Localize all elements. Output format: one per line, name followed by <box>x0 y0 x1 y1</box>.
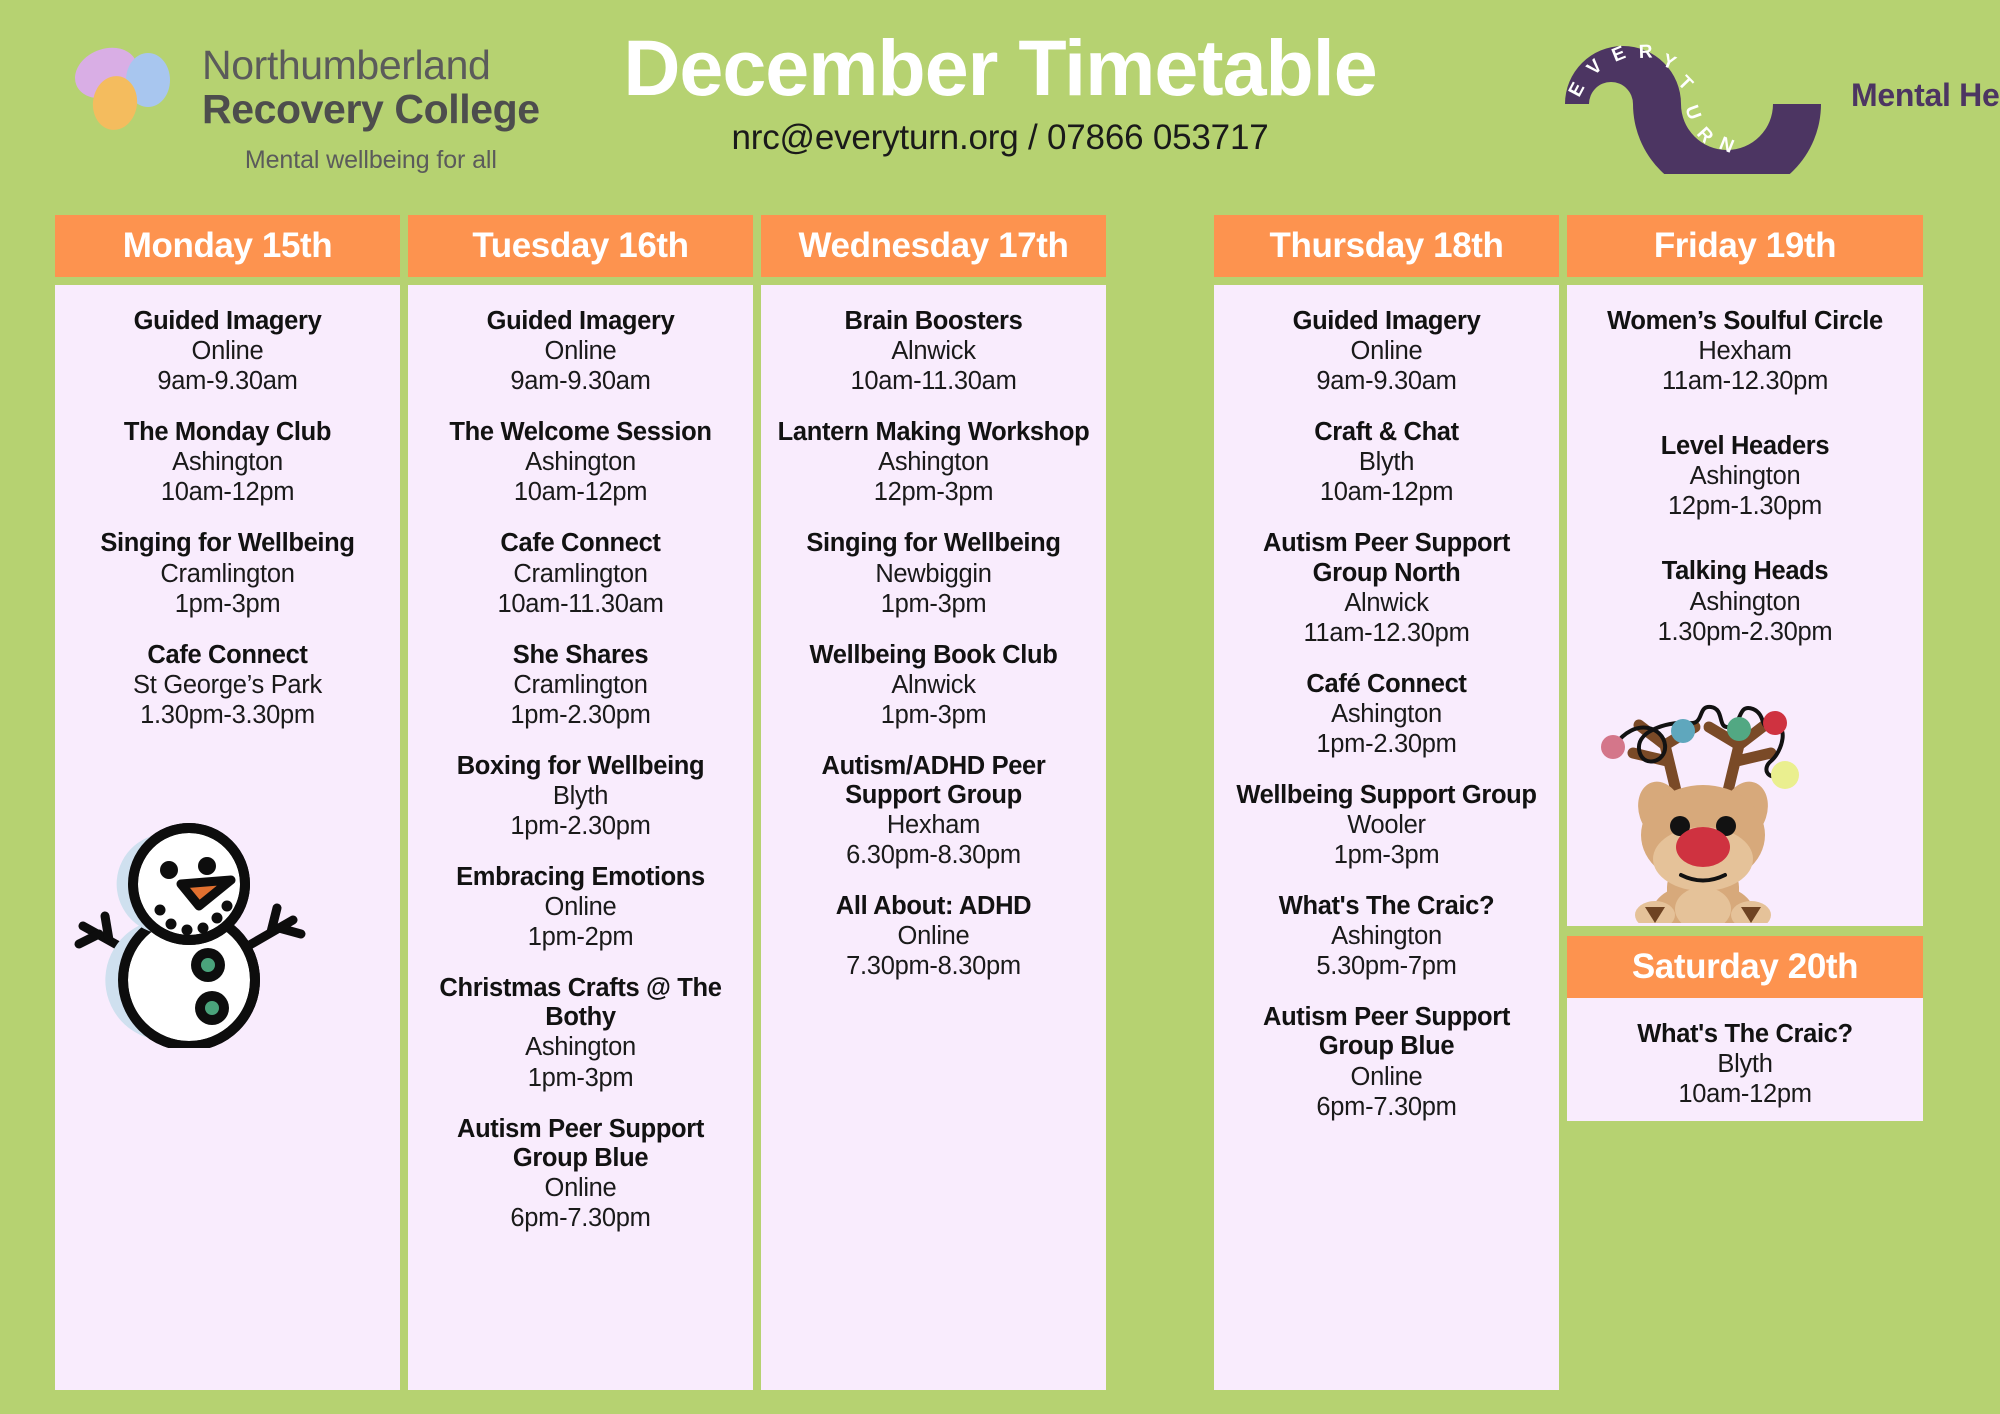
event-time: 1pm-2.30pm <box>418 700 743 730</box>
everyturn-brand: E V E R Y T U R N Mental Health <box>1555 22 2000 174</box>
event-location: Hexham <box>771 810 1096 840</box>
brand-line-1: Northumberland <box>202 44 540 88</box>
day-body-tuesday: Guided Imagery Online 9am-9.30am The Wel… <box>408 285 753 1390</box>
event-time: 10am-12pm <box>65 477 390 507</box>
event-title: Wellbeing Book Club <box>771 641 1096 670</box>
everyturn-swirl-icon: E V E R Y T U R N <box>1555 22 1845 174</box>
event-location: Cramlington <box>418 559 743 589</box>
event-location: Ashington <box>418 1032 743 1062</box>
event-time: 1pm-2pm <box>418 922 743 952</box>
event-title: Wellbeing Support Group <box>1224 781 1549 810</box>
event-item[interactable]: Guided Imagery Online 9am-9.30am <box>418 307 743 396</box>
event-time: 10am-12pm <box>1577 1079 1913 1109</box>
event-title: Cafe Connect <box>418 529 743 558</box>
event-time: 12pm-3pm <box>771 477 1096 507</box>
page-title: December Timetable <box>500 24 1500 112</box>
day-body-thursday: Guided Imagery Online 9am-9.30am Craft &… <box>1214 285 1559 1390</box>
event-location: Online <box>418 336 743 366</box>
event-title: Autism Peer Support Group North <box>1224 529 1549 587</box>
event-item[interactable]: The Monday Club Ashington 10am-12pm <box>65 418 390 507</box>
divider <box>1214 277 1559 285</box>
snowman-illustration <box>65 808 390 1053</box>
event-title: She Shares <box>418 641 743 670</box>
divider <box>55 277 400 285</box>
day-body-wednesday: Brain Boosters Alnwick 10am-11.30am Lant… <box>761 285 1106 1390</box>
event-title: Guided Imagery <box>418 307 743 336</box>
event-time: 6pm-7.30pm <box>418 1203 743 1233</box>
title-block: December Timetable nrc@everyturn.org / 0… <box>500 24 1500 158</box>
event-title: Café Connect <box>1224 670 1549 699</box>
event-item[interactable]: Talking Heads Ashington 1.30pm-2.30pm <box>1577 557 1913 646</box>
event-time: 12pm-1.30pm <box>1577 491 1913 521</box>
event-item[interactable]: Autism Peer Support Group Blue Online 6p… <box>418 1115 743 1233</box>
event-title: Boxing for Wellbeing <box>418 752 743 781</box>
event-location: Ashington <box>1224 921 1549 951</box>
event-location: Ashington <box>771 447 1096 477</box>
event-location: Online <box>418 1173 743 1203</box>
event-item[interactable]: Women’s Soulful Circle Hexham 11am-12.30… <box>1577 307 1913 396</box>
butterfly-logo-icon <box>58 35 198 140</box>
day-body-friday: Women’s Soulful Circle Hexham 11am-12.30… <box>1567 285 1923 926</box>
event-title: Autism Peer Support Group Blue <box>418 1115 743 1173</box>
event-title: The Welcome Session <box>418 418 743 447</box>
event-location: St George’s Park <box>65 670 390 700</box>
event-location: Blyth <box>1224 447 1549 477</box>
event-item[interactable]: Cafe Connect Cramlington 10am-11.30am <box>418 529 743 618</box>
event-item[interactable]: Autism/ADHD Peer Support Group Hexham 6.… <box>771 752 1096 870</box>
event-time: 7.30pm-8.30pm <box>771 951 1096 981</box>
everyturn-subtitle: Mental Health <box>1851 77 2000 114</box>
event-time: 1.30pm-2.30pm <box>1577 617 1913 647</box>
event-time: 9am-9.30am <box>65 366 390 396</box>
reindeer-illustration <box>1577 683 1913 928</box>
event-item[interactable]: Level Headers Ashington 12pm-1.30pm <box>1577 432 1913 521</box>
timetable-poster: Northumberland Recovery College Mental w… <box>0 0 2000 1414</box>
event-title: Embracing Emotions <box>418 863 743 892</box>
event-title: The Monday Club <box>65 418 390 447</box>
event-item[interactable]: Singing for Wellbeing Newbiggin 1pm-3pm <box>771 529 1096 618</box>
event-title: What's The Craic? <box>1224 892 1549 921</box>
event-item[interactable]: What's The Craic? Blyth 10am-12pm <box>1577 1020 1913 1109</box>
event-title: Singing for Wellbeing <box>65 529 390 558</box>
event-item[interactable]: The Welcome Session Ashington 10am-12pm <box>418 418 743 507</box>
recovery-college-brand: Northumberland Recovery College Mental w… <box>58 35 540 175</box>
event-time: 1pm-2.30pm <box>1224 729 1549 759</box>
event-title: Singing for Wellbeing <box>771 529 1096 558</box>
event-item[interactable]: Guided Imagery Online 9am-9.30am <box>65 307 390 396</box>
day-body-saturday: What's The Craic? Blyth 10am-12pm <box>1567 998 1923 1121</box>
poster-header: Northumberland Recovery College Mental w… <box>0 0 2000 215</box>
timetable-grid: Monday 15th Guided Imagery Online 9am-9.… <box>0 215 2000 1414</box>
event-item[interactable]: Singing for Wellbeing Cramlington 1pm-3p… <box>65 529 390 618</box>
day-header-tuesday: Tuesday 16th <box>408 215 753 277</box>
event-item[interactable]: Guided Imagery Online 9am-9.30am <box>1224 307 1549 396</box>
event-title: Autism Peer Support Group Blue <box>1224 1003 1549 1061</box>
day-header-thursday: Thursday 18th <box>1214 215 1559 277</box>
event-time: 1pm-2.30pm <box>418 811 743 841</box>
event-location: Online <box>65 336 390 366</box>
svg-text:R: R <box>1638 42 1653 63</box>
day-header-friday: Friday 19th <box>1567 215 1923 277</box>
event-title: Brain Boosters <box>771 307 1096 336</box>
brand-text: Northumberland Recovery College Mental w… <box>202 35 540 175</box>
event-title: Cafe Connect <box>65 641 390 670</box>
event-item[interactable]: Autism Peer Support Group Blue Online 6p… <box>1224 1003 1549 1121</box>
event-location: Online <box>1224 1062 1549 1092</box>
event-time: 1pm-3pm <box>418 1063 743 1093</box>
divider <box>408 277 753 285</box>
event-title: Guided Imagery <box>1224 307 1549 336</box>
event-item[interactable]: Brain Boosters Alnwick 10am-11.30am <box>771 307 1096 396</box>
contact-info: nrc@everyturn.org / 07866 053717 <box>500 118 1500 158</box>
event-location: Online <box>418 892 743 922</box>
event-time: 1pm-3pm <box>65 589 390 619</box>
event-title: All About: ADHD <box>771 892 1096 921</box>
event-location: Alnwick <box>771 336 1096 366</box>
day-column-monday: Monday 15th Guided Imagery Online 9am-9.… <box>55 215 400 1390</box>
event-item[interactable]: Café Connect Ashington 1pm-2.30pm <box>1224 670 1549 759</box>
divider <box>761 277 1106 285</box>
event-time: 11am-12.30pm <box>1577 366 1913 396</box>
event-time: 5.30pm-7pm <box>1224 951 1549 981</box>
event-location: Hexham <box>1577 336 1913 366</box>
event-item[interactable]: Autism Peer Support Group North Alnwick … <box>1224 529 1549 647</box>
event-item[interactable]: Embracing Emotions Online 1pm-2pm <box>418 863 743 952</box>
event-time: 10am-11.30am <box>771 366 1096 396</box>
event-time: 6.30pm-8.30pm <box>771 840 1096 870</box>
event-location: Ashington <box>418 447 743 477</box>
divider <box>1567 277 1923 285</box>
event-title: Lantern Making Workshop <box>771 418 1096 447</box>
event-time: 6pm-7.30pm <box>1224 1092 1549 1122</box>
day-column-thursday: Thursday 18th Guided Imagery Online 9am-… <box>1214 215 1559 1390</box>
event-item[interactable]: What's The Craic? Ashington 5.30pm-7pm <box>1224 892 1549 981</box>
brand-tagline: Mental wellbeing for all <box>202 146 540 175</box>
event-time: 1.30pm-3.30pm <box>65 700 390 730</box>
event-title: What's The Craic? <box>1577 1020 1913 1049</box>
event-location: Ashington <box>1577 587 1913 617</box>
event-location: Ashington <box>65 447 390 477</box>
event-item[interactable]: Cafe Connect St George’s Park 1.30pm-3.3… <box>65 641 390 730</box>
event-title: Guided Imagery <box>65 307 390 336</box>
event-item[interactable]: Lantern Making Workshop Ashington 12pm-3… <box>771 418 1096 507</box>
event-location: Ashington <box>1224 699 1549 729</box>
day-header-saturday: Saturday 20th <box>1567 936 1923 998</box>
event-time: 1pm-3pm <box>771 700 1096 730</box>
svg-text:U: U <box>1680 103 1704 123</box>
day-header-monday: Monday 15th <box>55 215 400 277</box>
event-time: 10am-12pm <box>418 477 743 507</box>
event-title: Talking Heads <box>1577 557 1913 586</box>
event-location: Online <box>1224 336 1549 366</box>
event-location: Cramlington <box>65 559 390 589</box>
event-time: 1pm-3pm <box>771 589 1096 619</box>
event-location: Online <box>771 921 1096 951</box>
event-time: 11am-12.30pm <box>1224 618 1549 648</box>
event-location: Ashington <box>1577 461 1913 491</box>
event-time: 1pm-3pm <box>1224 840 1549 870</box>
event-item[interactable]: Christmas Crafts @ The Bothy Ashington 1… <box>418 974 743 1092</box>
event-title: Level Headers <box>1577 432 1913 461</box>
event-item[interactable]: She Shares Cramlington 1pm-2.30pm <box>418 641 743 730</box>
event-location: Cramlington <box>418 670 743 700</box>
event-title: Craft & Chat <box>1224 418 1549 447</box>
day-column-friday-saturday: Friday 19th Women’s Soulful Circle Hexha… <box>1567 215 1923 1121</box>
event-item[interactable]: Craft & Chat Blyth 10am-12pm <box>1224 418 1549 507</box>
event-title: Women’s Soulful Circle <box>1577 307 1913 336</box>
event-location: Blyth <box>418 781 743 811</box>
event-time: 10am-12pm <box>1224 477 1549 507</box>
day-column-wednesday: Wednesday 17th Brain Boosters Alnwick 10… <box>761 215 1106 1390</box>
event-item[interactable]: Wellbeing Support Group Wooler 1pm-3pm <box>1224 781 1549 870</box>
event-location: Wooler <box>1224 810 1549 840</box>
day-body-monday: Guided Imagery Online 9am-9.30am The Mon… <box>55 285 400 1390</box>
event-time: 9am-9.30am <box>418 366 743 396</box>
day-header-wednesday: Wednesday 17th <box>761 215 1106 277</box>
event-item[interactable]: Boxing for Wellbeing Blyth 1pm-2.30pm <box>418 752 743 841</box>
event-time: 10am-11.30am <box>418 589 743 619</box>
event-location: Newbiggin <box>771 559 1096 589</box>
day-column-tuesday: Tuesday 16th Guided Imagery Online 9am-9… <box>408 215 753 1390</box>
event-time: 9am-9.30am <box>1224 366 1549 396</box>
brand-line-2: Recovery College <box>202 88 540 132</box>
event-title: Autism/ADHD Peer Support Group <box>771 752 1096 810</box>
event-item[interactable]: Wellbeing Book Club Alnwick 1pm-3pm <box>771 641 1096 730</box>
event-location: Blyth <box>1577 1049 1913 1079</box>
event-title: Christmas Crafts @ The Bothy <box>418 974 743 1032</box>
event-item[interactable]: All About: ADHD Online 7.30pm-8.30pm <box>771 892 1096 981</box>
event-location: Alnwick <box>1224 588 1549 618</box>
event-location: Alnwick <box>771 670 1096 700</box>
